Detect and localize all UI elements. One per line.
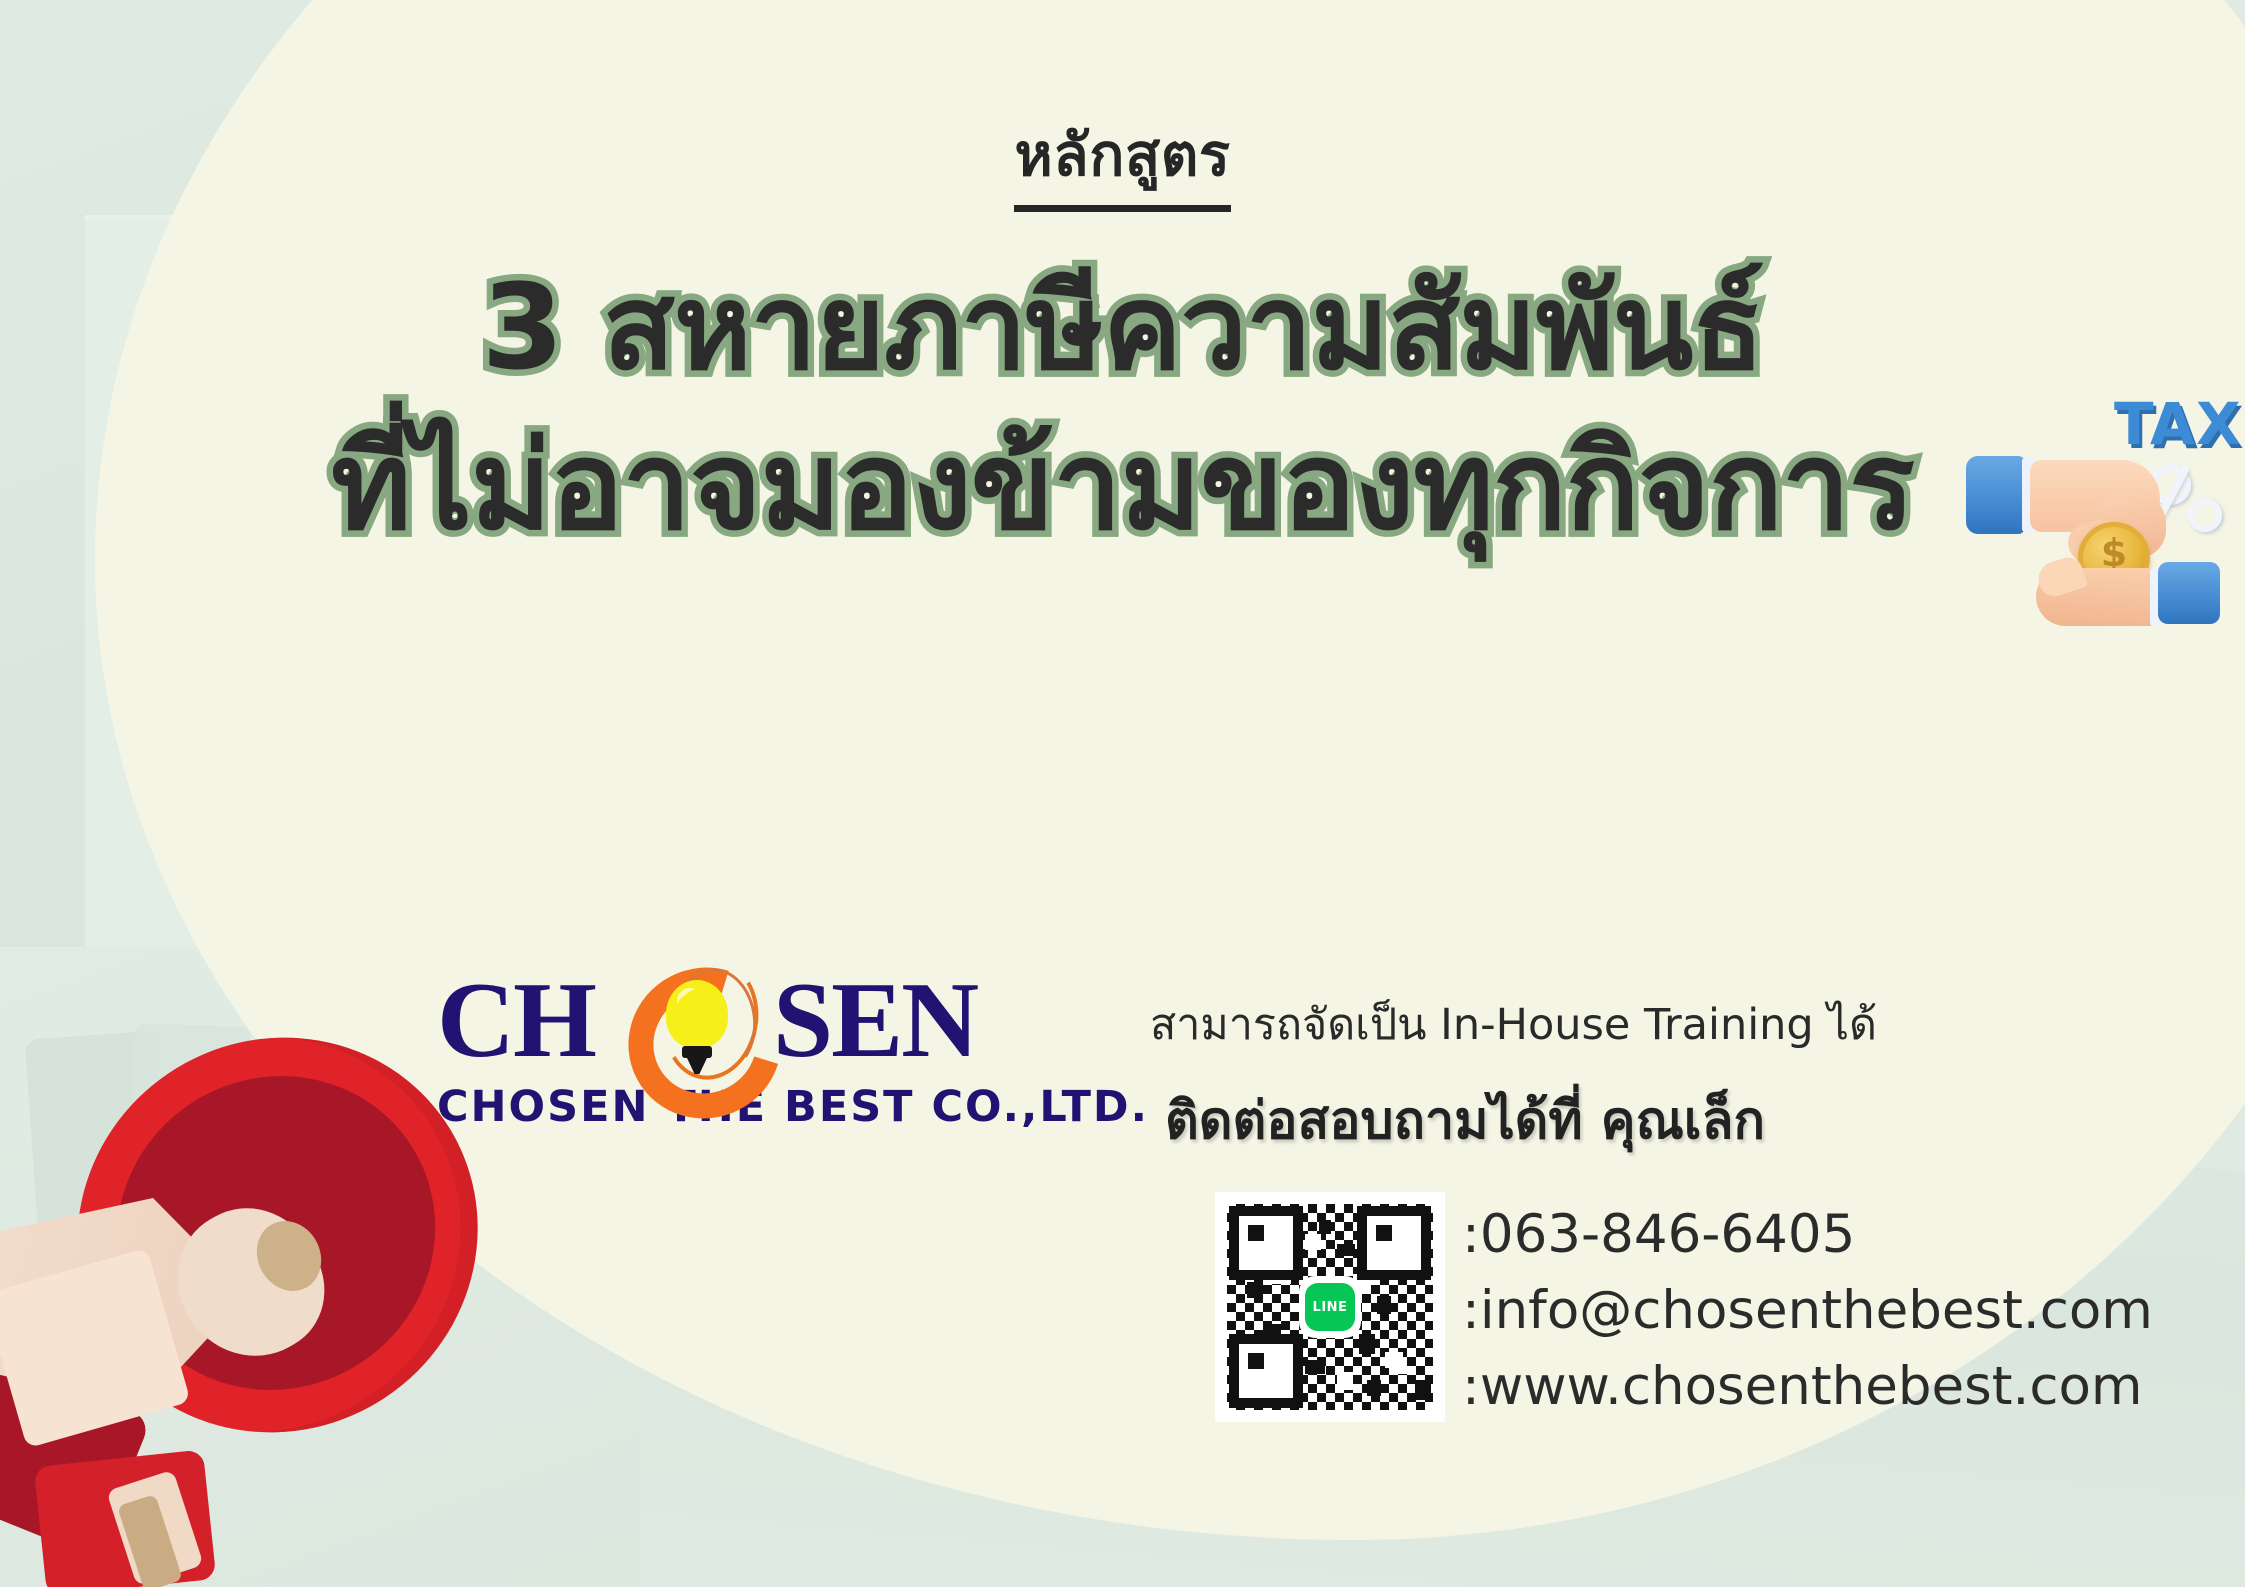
lower-hand-sleeve — [2158, 562, 2220, 624]
lightbulb-icon — [620, 962, 748, 1070]
logo-word-suffix: SEN — [773, 965, 977, 1077]
qr-code-pattern: LINE — [1227, 1204, 1433, 1410]
logo-wordmark: CH SEN — [437, 962, 1037, 1072]
tax-hands-illustration: TAX $ — [1918, 372, 2245, 622]
course-kicker: หลักสูตร — [0, 108, 2245, 212]
qr-finder-top-left — [1229, 1206, 1303, 1280]
company-logo: CH SEN CHOSEN THE BEST CO.,LTD. — [437, 962, 1037, 1132]
tax-label: TAX — [2114, 390, 2242, 458]
line-app-icon: LINE — [1299, 1276, 1361, 1338]
poster-canvas: หลักสูตร 3 สหายภาษีความสัมพันธ์ ที่ไม่อา… — [0, 0, 2245, 1587]
qr-finder-bottom-left — [1229, 1334, 1303, 1408]
line-app-label: LINE — [1305, 1283, 1355, 1331]
line-qr-code[interactable]: LINE — [1215, 1192, 1445, 1422]
in-house-training-note: สามารถจัดเป็น In-House Training ได้ — [1150, 990, 1970, 1058]
logo-word-prefix: CH — [437, 965, 595, 1077]
contact-details: :063-846-6405 :info@chosenthebest.com :w… — [1462, 1200, 2153, 1428]
contact-email[interactable]: :info@chosenthebest.com — [1462, 1276, 2153, 1346]
upper-hand-sleeve — [1966, 456, 2026, 534]
megaphone-illustration — [0, 1030, 500, 1587]
qr-finder-top-right — [1357, 1206, 1431, 1280]
course-kicker-text: หลักสูตร — [1014, 108, 1230, 212]
contact-phone[interactable]: :063-846-6405 — [1462, 1200, 2153, 1270]
contact-call-to-action: ติดต่อสอบถามได้ที่ คุณเล็ก — [1165, 1078, 1985, 1161]
contact-website[interactable]: :www.chosenthebest.com — [1462, 1352, 2153, 1422]
